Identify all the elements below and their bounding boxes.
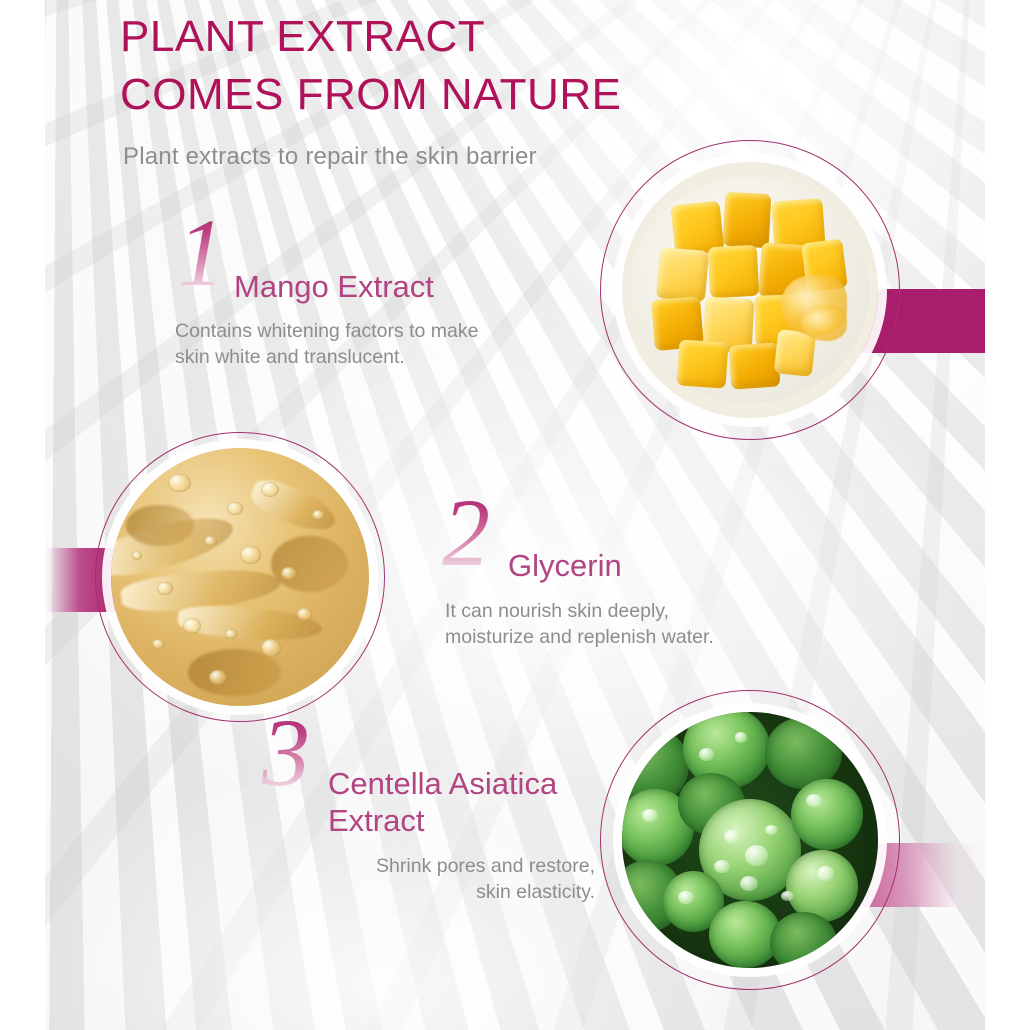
feature-3-image-wrap	[600, 690, 900, 990]
feature-2-image-wrap	[95, 432, 385, 722]
feature-1-image-wrap	[600, 140, 900, 440]
headline-line-1: PLANT EXTRACT	[120, 8, 940, 66]
headline-line-2: COMES FROM NATURE	[120, 66, 940, 124]
glycerin-gel-photo	[111, 448, 369, 706]
content-panel: PLANT EXTRACT COMES FROM NATURE Plant ex…	[45, 0, 985, 1030]
centella-leaves-photo	[622, 712, 878, 968]
mango-cubes-photo	[622, 162, 878, 418]
infographic-page: PLANT EXTRACT COMES FROM NATURE Plant ex…	[0, 0, 1030, 1030]
